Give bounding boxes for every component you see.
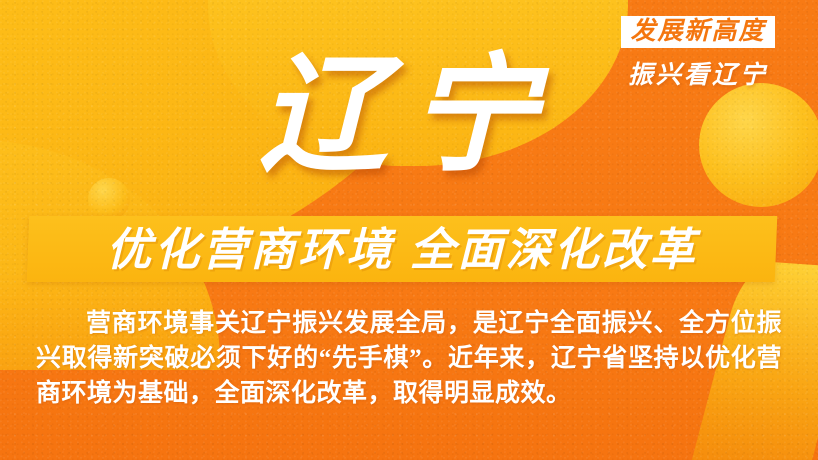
slogan-banner-inner: 优化营商环境 全面深化改革 [28,216,776,282]
lockup-sub-text: 振兴看辽宁 [602,55,794,91]
gold-sphere-small-left [88,178,130,220]
lockup-boxed-line: 发展新高度 [621,16,774,48]
poster-canvas: 发展新高度 振兴看辽宁 辽宁 优化营商环境 全面深化改革 营商环境事关辽宁振兴发… [0,0,818,460]
campaign-lockup: 发展新高度 振兴看辽宁 [602,16,794,91]
slogan-banner: 优化营商环境 全面深化改革 [27,216,778,282]
body-copy: 营商环境事关辽宁振兴发展全局，是辽宁全面振兴、全方位振兴取得新突破必须下好的“先… [36,306,782,411]
slogan-banner-text: 优化营商环境 全面深化改革 [106,227,698,272]
lockup-boxed-text: 发展新高度 [630,19,765,44]
body-paragraph: 营商环境事关辽宁振兴发展全局，是辽宁全面振兴、全方位振兴取得新突破必须下好的“先… [36,306,782,411]
gold-circle-right [699,83,818,207]
